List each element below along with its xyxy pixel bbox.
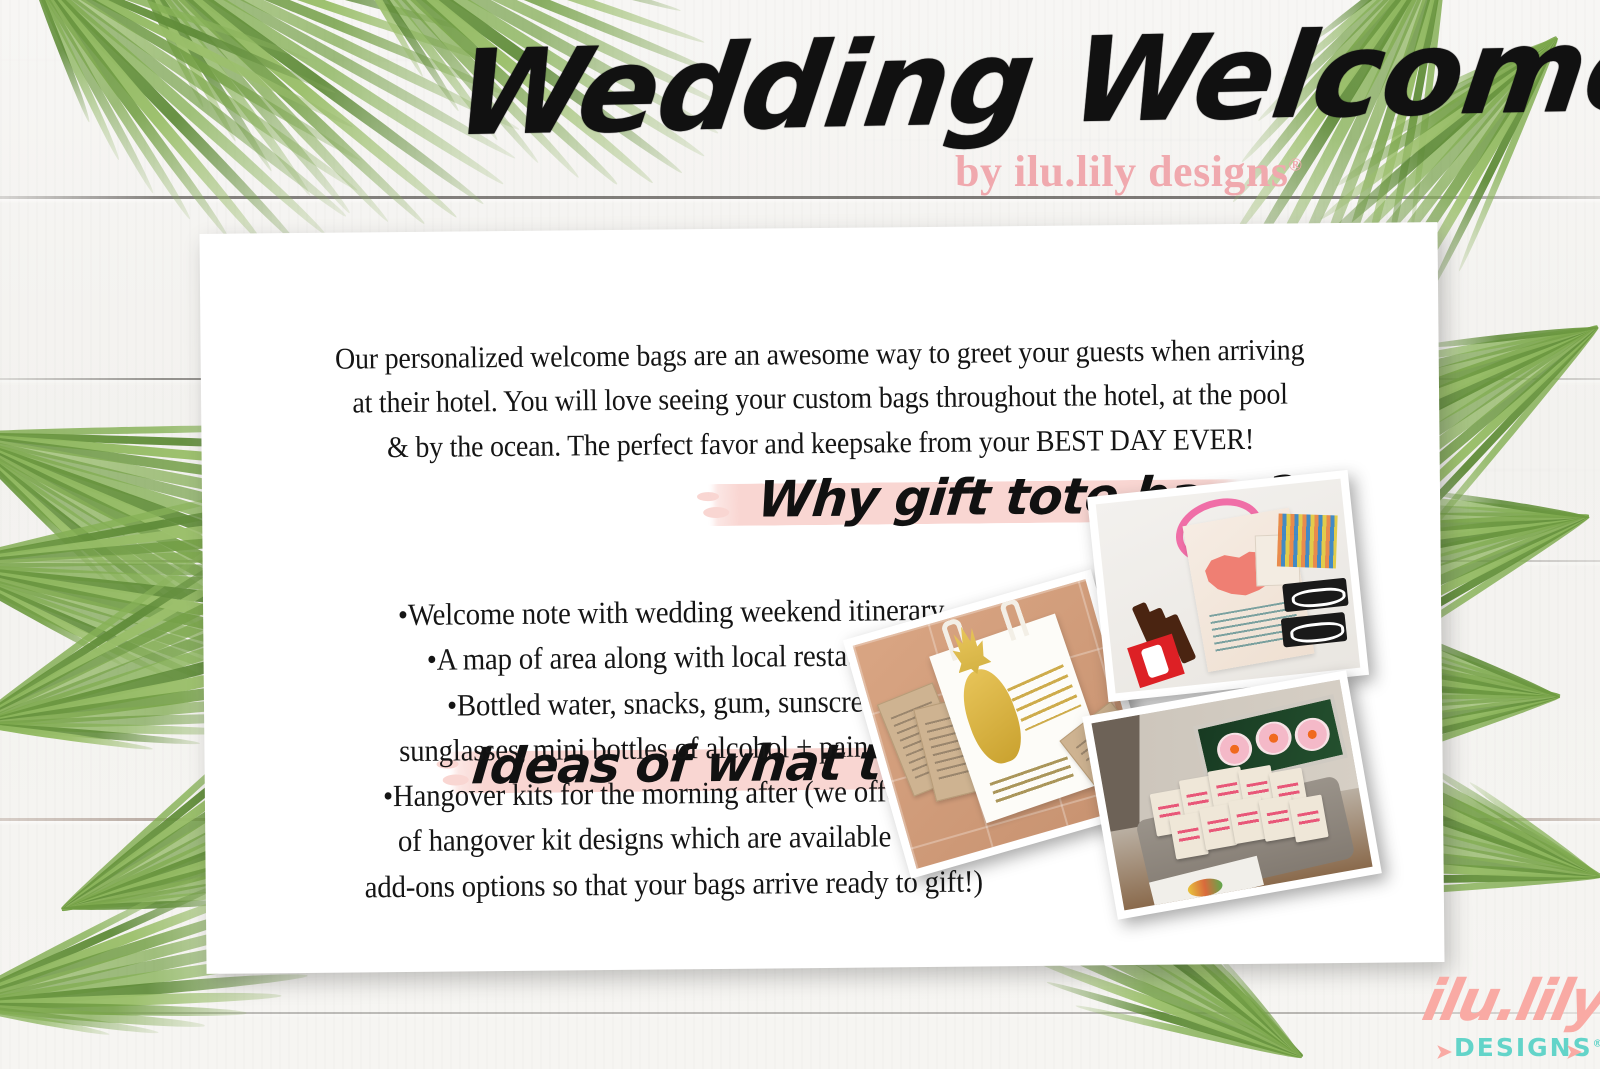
intro-line-3: & by the ocean. The perfect favor and ke… [300,417,1340,471]
plank-seam [0,196,1600,199]
right-arrow-icon: ➤ [1566,1041,1582,1064]
sunglasses-case [1281,612,1348,647]
page-title: Wedding Welcome Bags [449,2,1600,153]
flat-lay-welcome-bag-photo [1087,470,1369,702]
logo-script-text: ilu.lily [1418,973,1600,1030]
intro-paragraph: Our personalized welcome bags are an awe… [300,328,1341,471]
plank-seam [0,1012,1600,1014]
logo-registered-mark: ® [1593,1039,1600,1050]
byline-text: by ilu.lily designs [955,147,1289,196]
byline: by ilu.lily designs® [955,146,1302,197]
left-arrow-icon: ➤ [1436,1041,1452,1064]
ilu-lily-designs-logo[interactable]: ilu.lily ➤ DESIGNS® ➤ [1424,975,1594,1067]
color-swatch-cards [1277,514,1338,569]
list-item: add-ons options so that your bags arrive… [255,857,1092,910]
poster-canvas: Why gift tote bags? Our personalized wel… [0,0,1600,1069]
sunglasses-case [1282,577,1349,612]
registered-mark: ® [1289,154,1303,174]
